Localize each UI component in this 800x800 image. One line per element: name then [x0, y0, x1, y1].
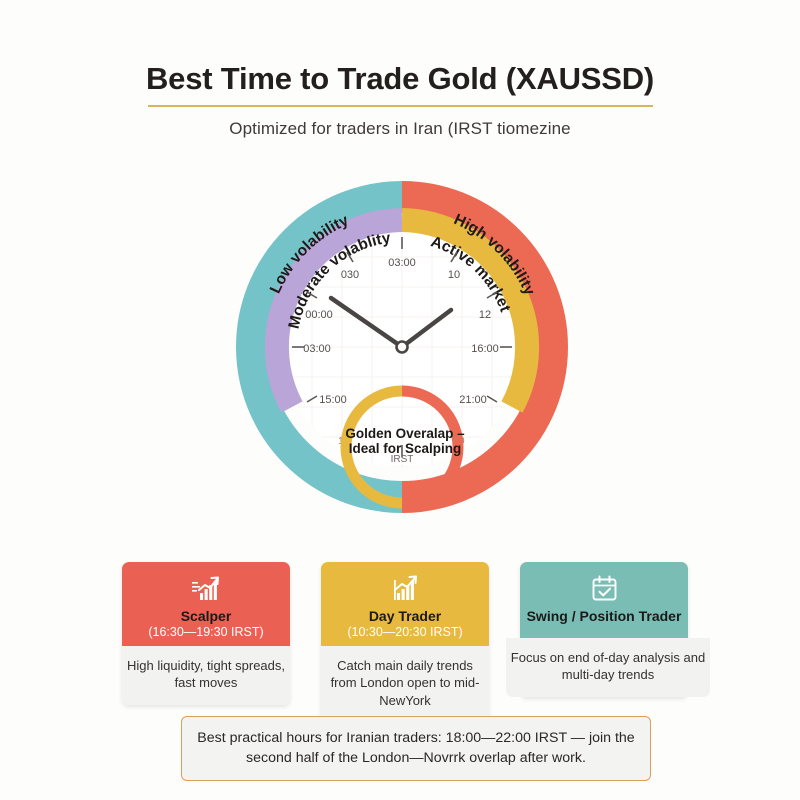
bar-chart-arrow-up-icon [128, 573, 284, 603]
card-day-trader[interactable]: Day Trader (10:30—20:30 IRST) Catch main… [321, 562, 489, 722]
page-title: Best Time to Trade Gold (XAUSSD) [0, 62, 800, 96]
dial-label-3: 00:00 [305, 309, 333, 321]
dial-label-4: 12 [479, 309, 491, 321]
clock-svg: Low volability High volability Moderate … [228, 163, 576, 531]
card-day-trader-title: Day Trader [327, 608, 483, 624]
card-day-trader-time: (10:30—20:30 IRST) [327, 625, 483, 639]
dial-label-6: 16:00 [471, 343, 499, 355]
card-scalper-head: Scalper (16:30—19:30 IRST) [122, 562, 290, 646]
header: Best Time to Trade Gold (XAUSSD) Optimiz… [0, 62, 800, 139]
golden-overlap-badge-line1: Golden Overalap – [345, 426, 465, 441]
dial-label-5: 03:00 [303, 343, 331, 355]
dial-label-0: 03:00 [388, 257, 416, 269]
card-swing-position-trader[interactable]: Swing / Position Trader Focus on end of-… [520, 562, 688, 697]
infographic-canvas: Best Time to Trade Gold (XAUSSD) Optimiz… [0, 0, 800, 800]
bar-chart-arrow-up-icon [327, 573, 483, 603]
card-swing-position-trader-head: Swing / Position Trader [520, 562, 688, 638]
card-scalper[interactable]: Scalper (16:30—19:30 IRST) High liquidit… [122, 562, 290, 705]
title-underline [148, 105, 653, 107]
clock-center-pin [397, 342, 408, 353]
page-subtitle: Optimized for traders in Iran (IRST tiom… [0, 119, 800, 139]
card-scalper-body: High liquidity, tight spreads, fast move… [122, 646, 290, 705]
clock-diagram: Low volability High volability Moderate … [228, 163, 576, 531]
card-day-trader-head: Day Trader (10:30—20:30 IRST) [321, 562, 489, 646]
calendar-check-icon [526, 573, 682, 603]
card-scalper-title: Scalper [128, 608, 284, 624]
dial-label-8: 21:00 [459, 394, 487, 406]
trader-cards: Scalper (16:30—19:30 IRST) High liquidit… [122, 562, 688, 694]
golden-overlap-badge-line2: Ideal for Scalping [349, 441, 462, 456]
dial-label-2: 10 [448, 269, 460, 281]
dial-label-7: 15:00 [319, 394, 347, 406]
card-scalper-time: (16:30—19:30 IRST) [128, 625, 284, 639]
card-swing-position-trader-body: Focus on end of-day analysis and multi-d… [506, 638, 710, 697]
card-day-trader-body: Catch main daily trends from London open… [321, 646, 489, 722]
dial-label-1: 030 [341, 269, 359, 281]
footer-note: Best practical hours for Iranian traders… [181, 716, 651, 781]
card-swing-position-trader-title: Swing / Position Trader [526, 608, 682, 624]
